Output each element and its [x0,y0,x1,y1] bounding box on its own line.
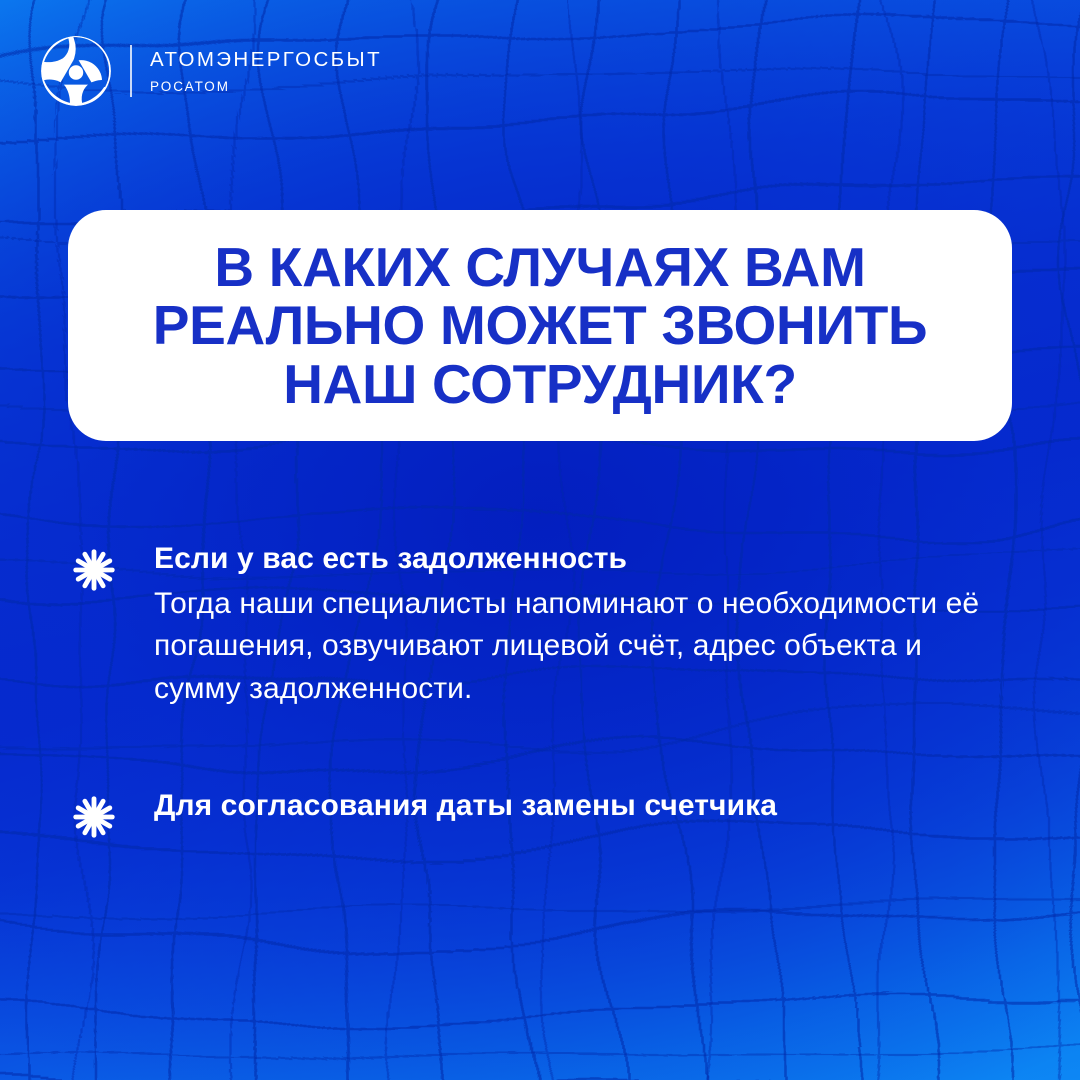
brand-lockup: АТОМЭНЕРГОСБЫТ РОСАТОМ [38,32,382,110]
bullet-list: Если у вас есть задолженность Тогда наши… [72,540,1020,839]
list-item-body: Если у вас есть задолженность Тогда наши… [154,540,1020,711]
starburst-bullet-icon [72,548,116,592]
list-item: Если у вас есть задолженность Тогда наши… [72,540,1020,711]
list-item-title: Для согласования даты замены счетчика [154,787,1020,825]
poster-canvas: АТОМЭНЕРГОСБЫТ РОСАТОМ В каких случаях в… [0,0,1080,1080]
brand-subname: РОСАТОМ [150,79,382,95]
brand-wordmark: АТОМЭНЕРГОСБЫТ РОСАТОМ [150,48,382,94]
brand-name: АТОМЭНЕРГОСБЫТ [150,48,382,72]
headline-card: В каких случаях вам реально может звонит… [68,210,1012,441]
starburst-bullet-icon [72,795,116,839]
list-item-text: Тогда наши специалисты напоминают о необ… [154,583,1009,712]
list-item: Для согласования даты замены счетчика [72,787,1020,839]
rosatom-atom-icon [38,33,114,109]
list-item-body: Для согласования даты замены счетчика [154,787,1020,825]
page-title: В каких случаях вам реально может звонит… [68,238,1012,413]
brand-divider [130,45,132,97]
list-item-title: Если у вас есть задолженность [154,540,1020,578]
